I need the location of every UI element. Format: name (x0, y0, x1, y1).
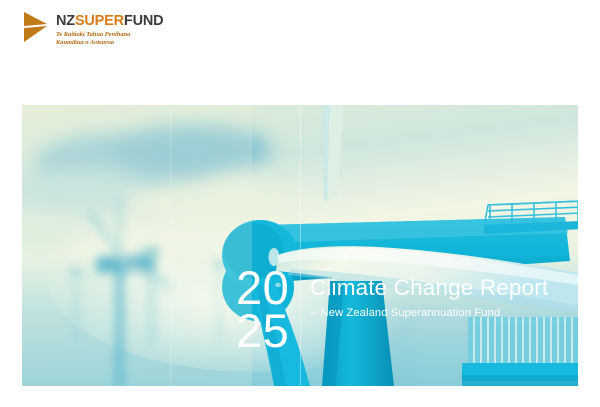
nz-super-fund-logo: NZSUPERFUND Te Kaitiaki Tahua Penihana K… (22, 12, 163, 52)
logo-maori-line-1: Te Kaitiaki Tahua Penihana (56, 31, 163, 39)
logo-maori-tagline: Te Kaitiaki Tahua Penihana Kaumātua o Ao… (56, 31, 163, 47)
logo-text-group: NZSUPERFUND Te Kaitiaki Tahua Penihana K… (56, 12, 163, 47)
logo-maori-line-2: Kaumātua o Aotearoa (56, 39, 163, 47)
logo-wordmark: NZSUPERFUND (56, 14, 163, 29)
nz-super-fund-arrow-mark (22, 12, 52, 46)
logo-wordmark-nz: NZ (56, 13, 75, 29)
cover-hero-image: 20 25 Climate Change Report – New Zealan… (22, 105, 578, 386)
logo-wordmark-fund: FUND (124, 13, 163, 29)
logo-wordmark-super: SUPER (75, 13, 124, 29)
